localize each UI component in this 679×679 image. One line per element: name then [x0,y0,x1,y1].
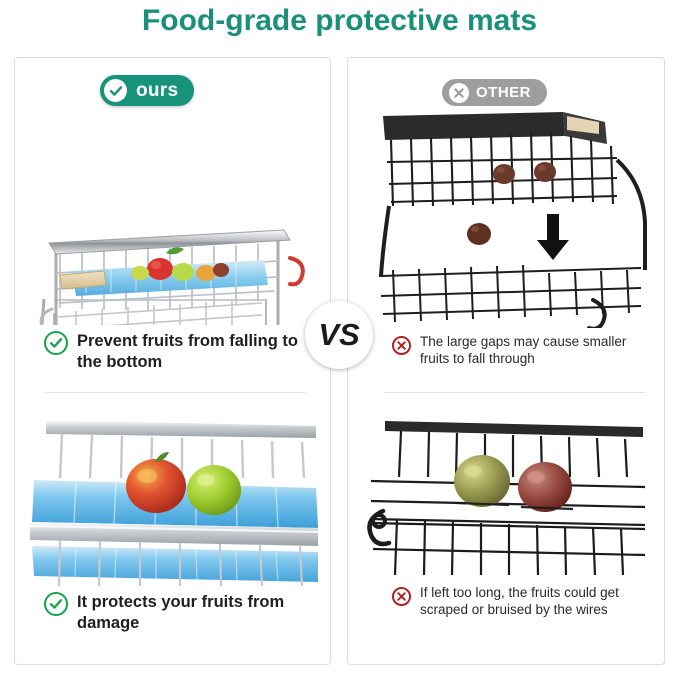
other-caption-2: If left too long, the fruits could get s… [392,585,642,619]
check-circle-icon [44,331,68,355]
ours-caption-2: It protects your fruits from damage [44,592,306,633]
ours-caption-1-text: Prevent fruits from falling to the botto… [77,331,306,372]
ours-caption-1: Prevent fruits from falling to the botto… [44,331,306,372]
cross-circle-icon [392,334,411,355]
other-caption-2-text: If left too long, the fruits could get s… [420,585,642,619]
other-top-photo [349,110,663,328]
other-caption-1-text: The large gaps may cause smaller fruits … [420,334,642,368]
cross-icon [449,83,469,103]
check-icon [104,79,127,102]
ours-bottom-photo [16,418,329,586]
page-title: Food-grade protective mats [0,4,679,38]
other-bottom-photo [349,415,663,580]
ours-caption-2-text: It protects your fruits from damage [77,592,306,633]
right-row-divider [384,392,646,393]
other-badge-label: OTHER [476,84,531,101]
other-badge: OTHER [442,79,547,106]
check-circle-icon [44,592,68,616]
cross-circle-icon [392,585,411,606]
ours-top-photo [16,103,329,325]
vs-badge: VS [305,301,373,369]
ours-badge-label: ours [136,80,178,102]
other-caption-1: The large gaps may cause smaller fruits … [392,334,642,368]
ours-badge: ours [100,75,194,106]
left-row-divider [44,392,306,393]
comparison-infographic: Food-grade protective mats [0,0,679,679]
